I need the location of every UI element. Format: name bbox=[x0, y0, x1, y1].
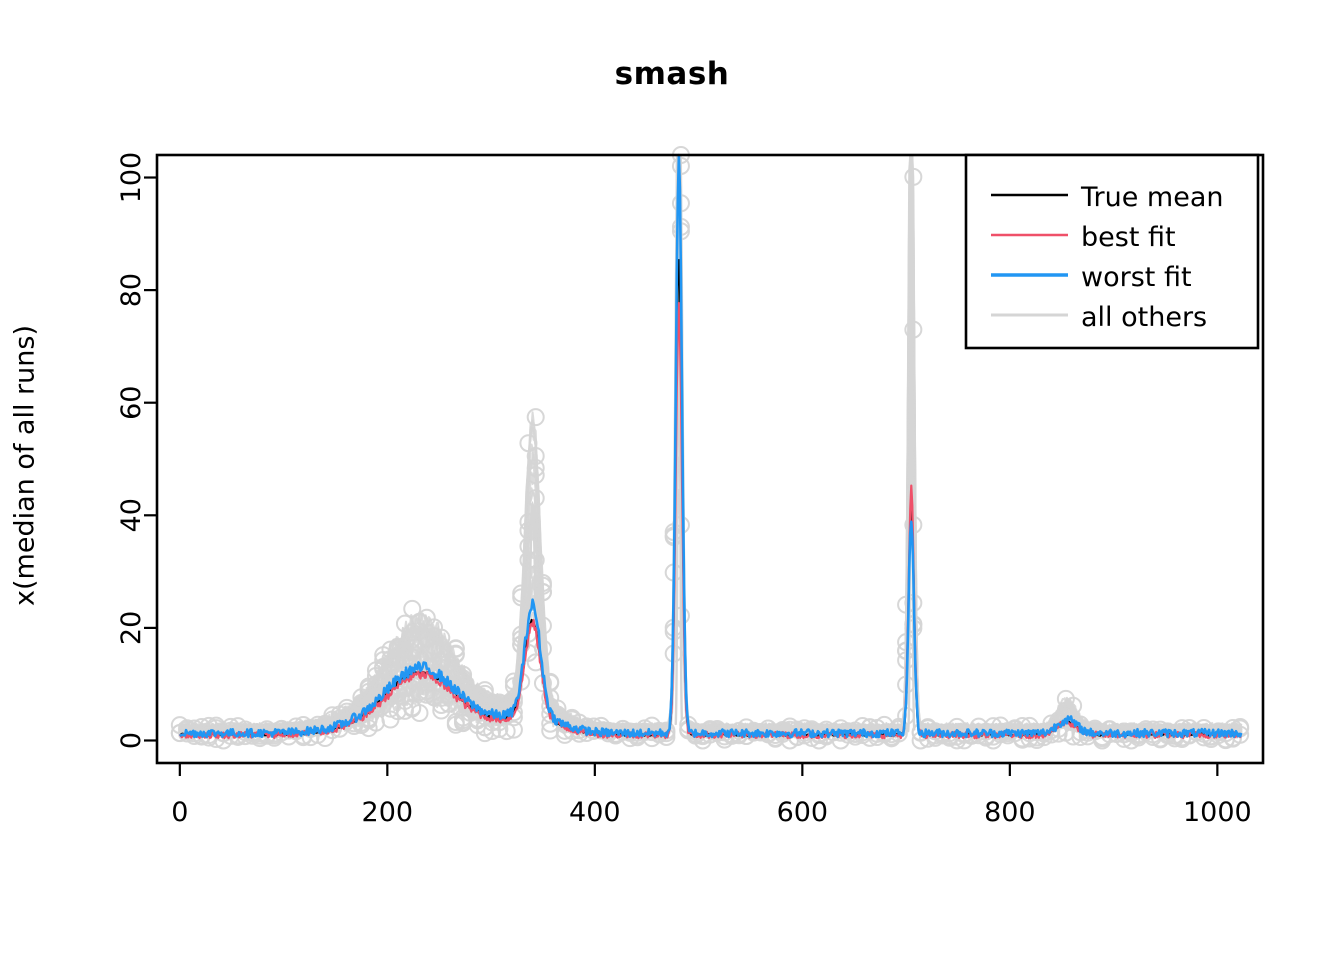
legend-item-label: all others bbox=[1081, 302, 1207, 333]
figure-canvas: smash x(median of all runs) 020040060080… bbox=[0, 0, 1344, 960]
y-tick-label: 20 bbox=[116, 611, 147, 645]
x-tick-label: 400 bbox=[569, 797, 621, 828]
y-tick-label: 80 bbox=[116, 273, 147, 307]
x-tick-label: 0 bbox=[171, 797, 188, 828]
legend-item-label: best fit bbox=[1081, 222, 1176, 253]
legend-item-label: worst fit bbox=[1081, 262, 1192, 293]
x-tick-label: 600 bbox=[777, 797, 829, 828]
x-tick-label: 800 bbox=[984, 797, 1036, 828]
y-tick-label: 0 bbox=[116, 732, 147, 749]
x-tick-label: 1000 bbox=[1183, 797, 1252, 828]
legend-item-label: True mean bbox=[1080, 182, 1224, 213]
y-tick-label: 100 bbox=[116, 152, 147, 204]
legend[interactable]: True meanbest fitworst fitall others bbox=[966, 155, 1258, 348]
x-tick-label: 200 bbox=[362, 797, 414, 828]
y-tick-label: 60 bbox=[116, 386, 147, 420]
plot-area: 02004006008001000020406080100 True meanb… bbox=[0, 0, 1344, 960]
y-tick-label: 40 bbox=[116, 498, 147, 532]
